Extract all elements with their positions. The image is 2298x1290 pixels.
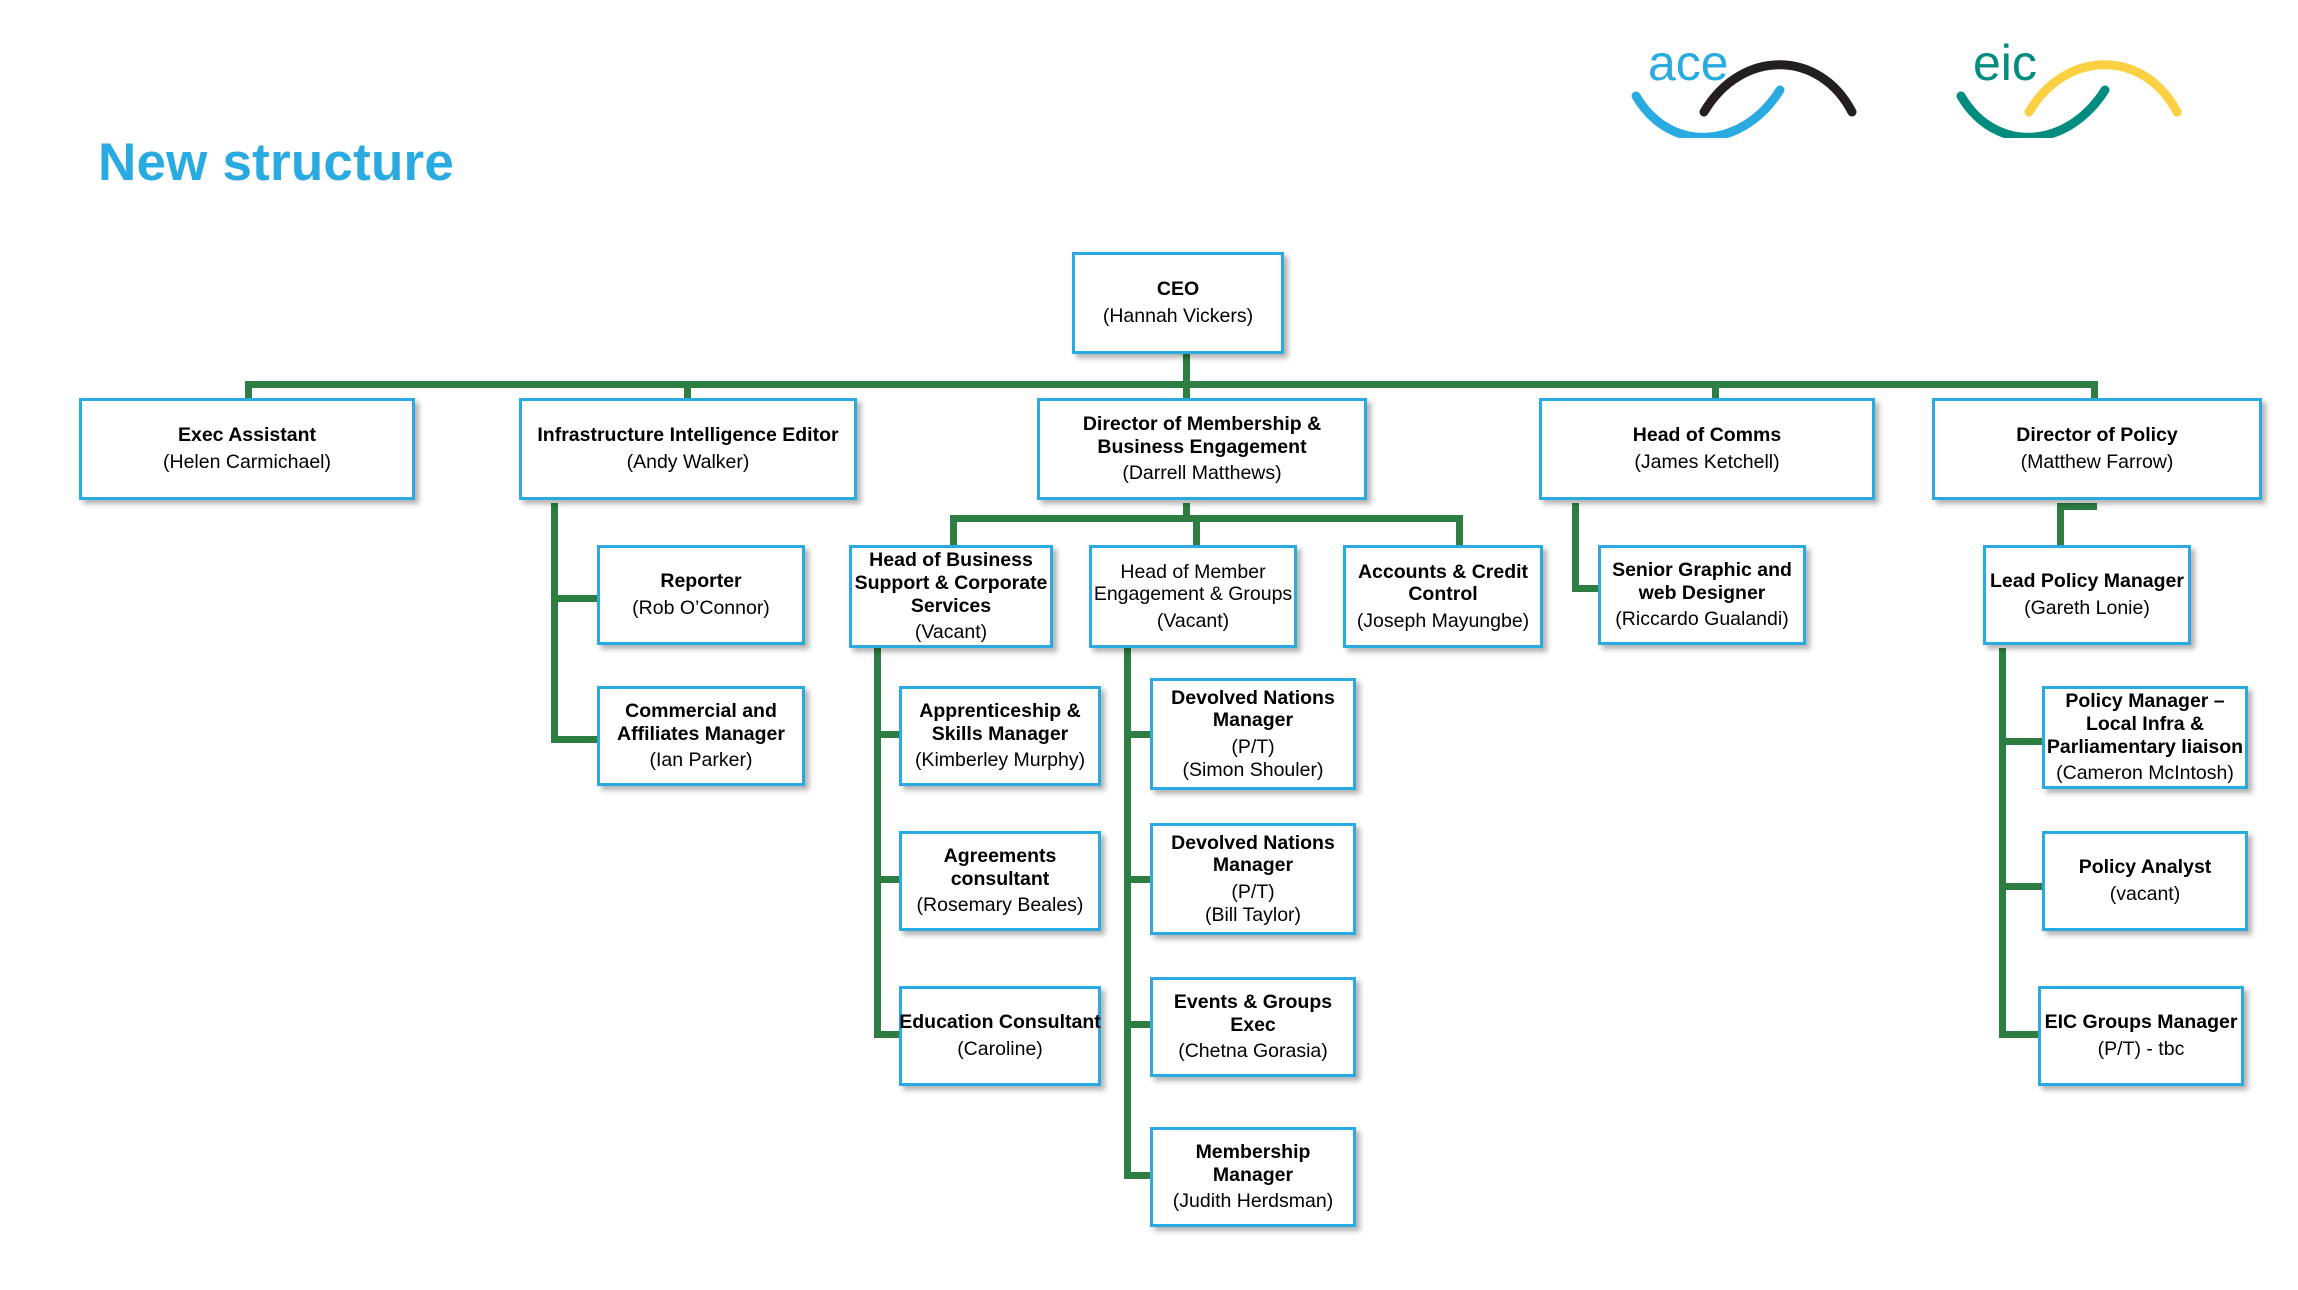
node-membership-manager-title: Membership Manager: [1196, 1141, 1311, 1186]
node-exec-assistant-subtitle: (Helen Carmichael): [163, 451, 331, 474]
node-devolved-nations-manager-bill[interactable]: Devolved Nations Manager (P/T) (Bill Tay…: [1150, 823, 1356, 935]
node-devolved-nations-manager-simon-title: Devolved Nations Manager: [1171, 687, 1335, 732]
node-policy-analyst-subtitle: (vacant): [2110, 883, 2180, 906]
node-accounts-credit-control-title: Accounts & Credit Control: [1358, 561, 1528, 606]
node-head-business-support-corporate-services[interactable]: Head of Business Support & Corporate Ser…: [849, 545, 1053, 648]
node-head-member-engagement-groups-subtitle: (Vacant): [1157, 610, 1229, 633]
node-education-consultant-title: Education Consultant: [899, 1011, 1101, 1034]
node-events-groups-exec-title: Events & Groups Exec: [1174, 991, 1332, 1036]
node-director-of-policy-title: Director of Policy: [2016, 424, 2177, 447]
node-head-business-support-corporate-services-title: Head of Business Support & Corporate Ser…: [855, 549, 1048, 617]
node-eic-groups-manager[interactable]: EIC Groups Manager (P/T) - tbc: [2038, 986, 2244, 1086]
node-devolved-nations-manager-bill-title: Devolved Nations Manager: [1171, 832, 1335, 877]
node-exec-assistant[interactable]: Exec Assistant (Helen Carmichael): [79, 398, 415, 500]
node-apprenticeship-skills-manager-subtitle: (Kimberley Murphy): [915, 749, 1085, 772]
node-senior-graphic-web-designer-subtitle: (Riccardo Gualandi): [1615, 608, 1788, 631]
node-devolved-nations-manager-simon[interactable]: Devolved Nations Manager (P/T) (Simon Sh…: [1150, 678, 1356, 790]
connector-dirpol-elbow: [2057, 503, 2097, 510]
connector-leadpol-to-polmgr: [1999, 738, 2045, 745]
node-apprenticeship-skills-manager-title: Apprenticeship & Skills Manager: [919, 700, 1080, 745]
node-reporter-subtitle: (Rob O’Connor): [632, 597, 770, 620]
connector-drop-dirpol: [2091, 381, 2098, 399]
node-senior-graphic-web-designer-title: Senior Graphic and web Designer: [1612, 559, 1792, 604]
connector-iie-to-reporter: [551, 595, 598, 602]
node-commercial-affiliates-manager-title: Commercial and Affiliates Manager: [617, 700, 785, 745]
connector-hbscs-trunk: [874, 648, 881, 1038]
connector-comms-to-sgwd: [1572, 585, 1601, 592]
node-policy-manager-local-infra-subtitle: (Cameron McIntosh): [2056, 762, 2234, 785]
node-director-of-policy-subtitle: (Matthew Farrow): [2021, 451, 2174, 474]
node-devolved-nations-manager-bill-subtitle: (P/T) (Bill Taylor): [1205, 881, 1301, 926]
node-head-member-engagement-groups[interactable]: Head of Member Engagement & Groups (Vaca…: [1089, 545, 1297, 648]
node-agreements-consultant-subtitle: (Rosemary Beales): [917, 894, 1084, 917]
node-policy-analyst[interactable]: Policy Analyst (vacant): [2042, 831, 2248, 931]
connector-leadpol-trunk: [1999, 648, 2006, 1038]
node-devolved-nations-manager-simon-subtitle: (P/T) (Simon Shouler): [1183, 736, 1324, 781]
node-senior-graphic-web-designer[interactable]: Senior Graphic and web Designer (Riccard…: [1598, 545, 1806, 645]
connector-iie-to-commaff: [551, 736, 598, 743]
node-reporter-title: Reporter: [660, 570, 741, 593]
node-head-of-comms-subtitle: (James Ketchell): [1634, 451, 1779, 474]
node-accounts-credit-control-subtitle: (Joseph Mayungbe): [1357, 610, 1529, 633]
node-infrastructure-intelligence-editor-subtitle: (Andy Walker): [627, 451, 750, 474]
node-membership-manager[interactable]: Membership Manager (Judith Herdsman): [1150, 1127, 1356, 1227]
node-ceo-title: CEO: [1157, 278, 1199, 301]
node-ceo-subtitle: (Hannah Vickers): [1103, 305, 1253, 328]
node-lead-policy-manager-title: Lead Policy Manager: [1990, 570, 2184, 593]
node-lead-policy-manager[interactable]: Lead Policy Manager (Gareth Lonie): [1983, 545, 2191, 645]
connector-ceo-stem: [1183, 352, 1190, 384]
node-director-membership-business-engagement-title: Director of Membership & Business Engage…: [1083, 413, 1321, 458]
node-head-business-support-corporate-services-subtitle: (Vacant): [915, 621, 987, 644]
node-head-of-comms[interactable]: Head of Comms (James Ketchell): [1539, 398, 1875, 500]
node-policy-manager-local-infra-title: Policy Manager – Local Infra & Parliamen…: [2047, 690, 2243, 758]
connector-level1-bus: [245, 381, 2098, 388]
connector-hmeg-trunk: [1124, 648, 1131, 1179]
node-eic-groups-manager-subtitle: (P/T) - tbc: [2098, 1038, 2185, 1061]
connector-iie-trunk: [551, 503, 558, 743]
connector-drop-iie: [684, 381, 691, 399]
ace-logo-graphic: ace: [1630, 28, 1920, 138]
eic-logo-text: eic: [1973, 35, 2037, 91]
node-infrastructure-intelligence-editor[interactable]: Infrastructure Intelligence Editor (Andy…: [519, 398, 857, 500]
node-director-membership-business-engagement[interactable]: Director of Membership & Business Engage…: [1037, 398, 1367, 500]
page-title: New structure: [98, 132, 454, 193]
node-policy-analyst-title: Policy Analyst: [2079, 856, 2212, 879]
node-membership-manager-subtitle: (Judith Herdsman): [1173, 1190, 1333, 1213]
connector-drop-exec: [245, 381, 252, 399]
ace-logo-text: ace: [1648, 35, 1729, 91]
node-commercial-affiliates-manager-subtitle: (Ian Parker): [650, 749, 753, 772]
connector-drop-accounts: [1456, 515, 1463, 546]
connector-drop-comms: [1712, 381, 1719, 399]
node-eic-groups-manager-title: EIC Groups Manager: [2045, 1011, 2238, 1034]
node-commercial-affiliates-manager[interactable]: Commercial and Affiliates Manager (Ian P…: [597, 686, 805, 786]
node-exec-assistant-title: Exec Assistant: [178, 424, 316, 447]
ace-logo: ace: [1630, 28, 1920, 138]
connector-drop-dirmem: [1183, 381, 1190, 399]
node-infrastructure-intelligence-editor-title: Infrastructure Intelligence Editor: [537, 424, 838, 447]
node-policy-manager-local-infra[interactable]: Policy Manager – Local Infra & Parliamen…: [2042, 686, 2248, 789]
connector-drop-hbscs: [950, 515, 957, 546]
node-head-member-engagement-groups-title: Head of Member Engagement & Groups: [1094, 561, 1292, 606]
connector-drop-hmeg: [1193, 515, 1200, 546]
connector-comms-trunk: [1572, 503, 1579, 592]
node-education-consultant[interactable]: Education Consultant (Caroline): [899, 986, 1101, 1086]
node-accounts-credit-control[interactable]: Accounts & Credit Control (Joseph Mayung…: [1343, 545, 1543, 648]
node-head-of-comms-title: Head of Comms: [1633, 424, 1781, 447]
connector-leadpol-to-polanalyst: [1999, 883, 2045, 890]
node-events-groups-exec-subtitle: (Chetna Gorasia): [1178, 1040, 1328, 1063]
node-apprenticeship-skills-manager[interactable]: Apprenticeship & Skills Manager (Kimberl…: [899, 686, 1101, 786]
node-agreements-consultant[interactable]: Agreements consultant (Rosemary Beales): [899, 831, 1101, 931]
node-education-consultant-subtitle: (Caroline): [957, 1038, 1043, 1061]
eic-logo-graphic: eic: [1955, 28, 2245, 138]
node-director-membership-business-engagement-subtitle: (Darrell Matthews): [1122, 462, 1281, 485]
node-ceo[interactable]: CEO (Hannah Vickers): [1072, 252, 1284, 354]
connector-dirmem-bus: [950, 515, 1463, 522]
node-events-groups-exec[interactable]: Events & Groups Exec (Chetna Gorasia): [1150, 977, 1356, 1077]
node-lead-policy-manager-subtitle: (Gareth Lonie): [2024, 597, 2150, 620]
eic-logo: eic: [1955, 28, 2245, 138]
node-agreements-consultant-title: Agreements consultant: [944, 845, 1057, 890]
node-director-of-policy[interactable]: Director of Policy (Matthew Farrow): [1932, 398, 2262, 500]
node-reporter[interactable]: Reporter (Rob O’Connor): [597, 545, 805, 645]
